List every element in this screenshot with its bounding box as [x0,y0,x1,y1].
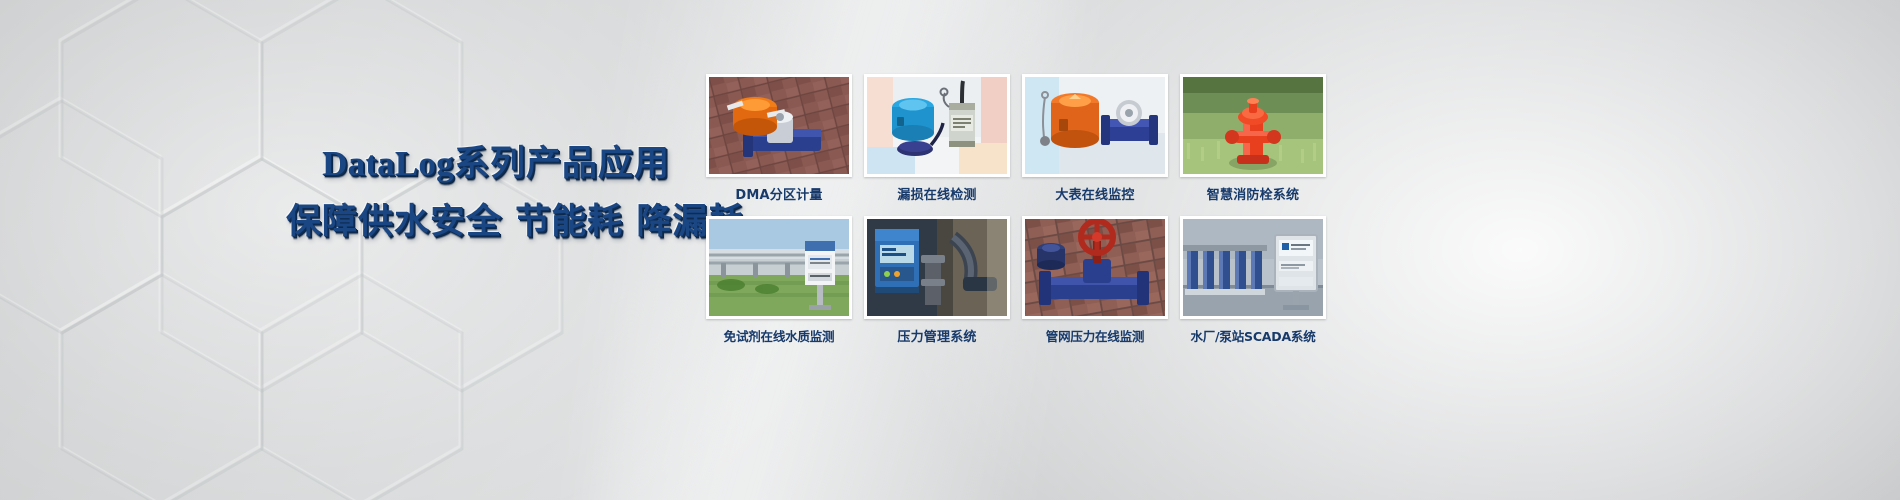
headline-line-1-cn: 系列产品应用 [454,144,670,184]
leak-detection-icon [867,77,1007,174]
product-thumbnail[interactable] [706,216,852,319]
hexagon-watermark [0,0,760,500]
headline-block: DataLog系列产品应用 保障供水安全 节能耗 降漏耗 [286,146,706,240]
product-card-scada[interactable]: 水厂/泵站SCADA系统 [1180,216,1326,345]
headline-line-2: 保障供水安全 节能耗 降漏耗 [286,205,706,241]
headline-brand-text: DataLog [322,144,454,183]
product-caption: 智慧消防栓系统 [1180,184,1326,203]
product-card-pipe-pressure[interactable]: 管网压力在线监测 [1022,216,1168,345]
product-thumbnail[interactable] [864,216,1010,319]
pressure-management-icon [867,219,1007,316]
product-thumbnail[interactable] [1180,74,1326,177]
pipe-pressure-icon [1025,219,1165,316]
product-thumbnail[interactable] [864,74,1010,177]
product-caption: 大表在线监控 [1022,184,1168,203]
product-caption: DMA分区计量 [706,184,852,203]
water-quality-icon [709,219,849,316]
product-application-banner: DataLog系列产品应用 保障供水安全 节能耗 降漏耗 [0,0,1900,500]
product-card-pressure-management[interactable]: 压力管理系统 [864,216,1010,345]
product-caption: 漏损在线检测 [864,184,1010,203]
large-meter-icon [1025,77,1165,174]
product-card-large-meter[interactable]: 大表在线监控 [1022,74,1168,203]
dma-metering-icon [709,77,849,174]
product-card-water-quality[interactable]: 免试剂在线水质监测 [706,216,852,345]
product-thumbnail[interactable] [1022,216,1168,319]
product-card-smart-hydrant[interactable]: 智慧消防栓系统 [1180,74,1326,203]
product-card-dma-metering[interactable]: DMA分区计量 [706,74,852,203]
product-caption: 水厂/泵站SCADA系统 [1180,326,1326,345]
scada-icon [1183,219,1323,316]
product-caption: 压力管理系统 [864,326,1010,345]
product-caption: 管网压力在线监测 [1022,326,1168,345]
product-card-leak-detection[interactable]: 漏损在线检测 [864,74,1010,203]
headline-line-1: DataLog系列产品应用 [286,146,706,183]
smart-hydrant-icon [1183,77,1323,174]
product-caption: 免试剂在线水质监测 [706,326,852,345]
product-thumbnail[interactable] [1180,216,1326,319]
product-thumbnail[interactable] [706,74,852,177]
product-thumbnail[interactable] [1022,74,1168,177]
product-grid: DMA分区计量 [706,74,1326,345]
